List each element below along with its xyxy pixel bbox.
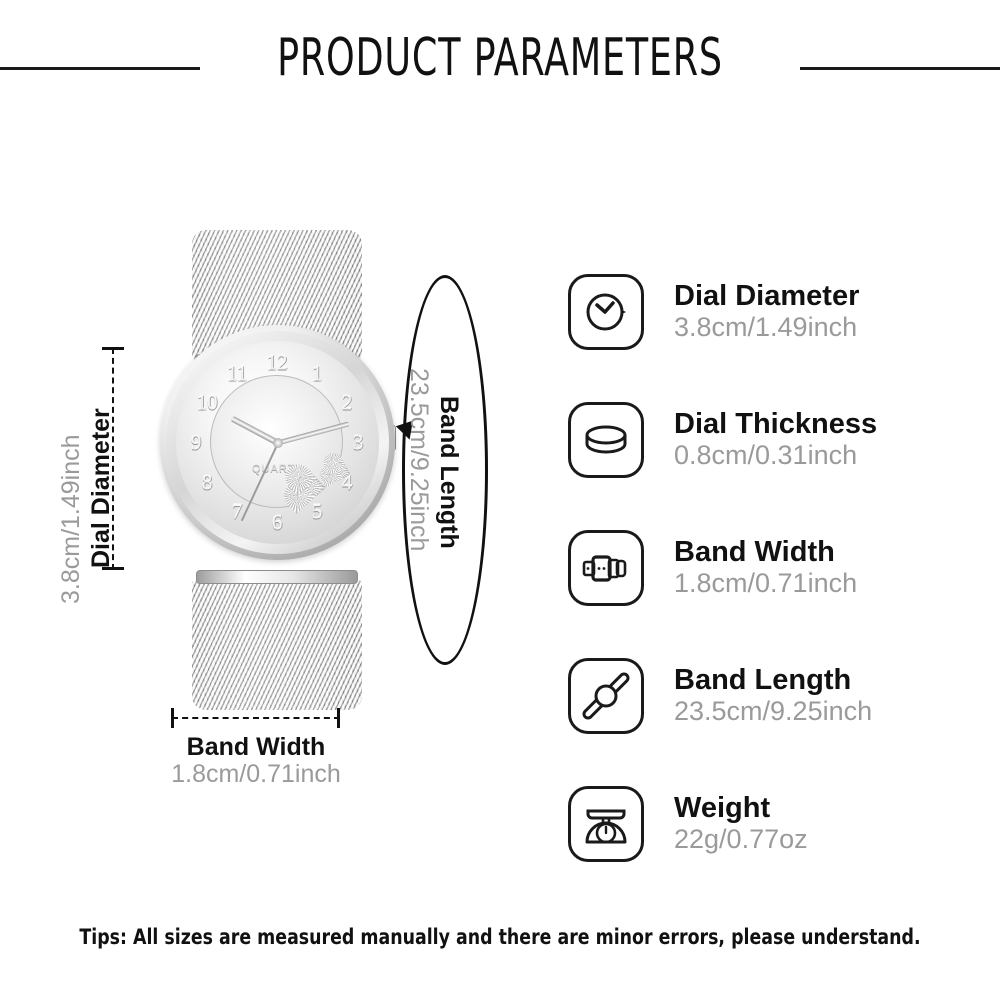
callout-band-width-value: 1.8cm/0.71inch — [110, 760, 402, 789]
dial-numeral-2: 2 — [342, 391, 353, 416]
dial-numeral-12: 12 — [267, 351, 288, 376]
dial-thickness-icon — [568, 402, 644, 478]
spec-row-dial-thickness: Dial Thickness 0.8cm/0.31inch — [568, 376, 968, 504]
spec-row-band-length: Band Length 23.5cm/9.25inch — [568, 632, 968, 760]
page-title: PRODUCT PARAMETERS — [110, 28, 890, 88]
spec-label: Band Length — [674, 664, 872, 696]
callout-band-length-value: 23.5cm/9.25inch — [406, 368, 433, 551]
dial-numeral-3: 3 — [353, 431, 364, 456]
spec-label: Band Width — [674, 536, 857, 568]
band-width-cap-left — [171, 708, 174, 728]
tips-note: Tips: All sizes are measured manually an… — [40, 925, 960, 949]
spec-label: Dial Diameter — [674, 280, 859, 312]
callout-dial-diameter-label: Dial Diameter — [88, 408, 115, 568]
spec-row-weight: Weight 22g/0.77oz — [568, 760, 968, 888]
callout-band-length-label: Band Length — [436, 396, 463, 549]
spec-text-band-width: Band Width 1.8cm/0.71inch — [674, 536, 857, 600]
dial-numeral-5: 5 — [312, 500, 323, 525]
dial-numeral-9: 9 — [191, 431, 202, 456]
watch-strap-icon — [568, 658, 644, 734]
hands-center-cap — [273, 438, 283, 448]
watch-buckle-icon — [568, 530, 644, 606]
spec-value: 1.8cm/0.71inch — [674, 568, 857, 600]
watch-lug-bottom — [196, 570, 358, 584]
kitchen-scale-icon — [568, 786, 644, 862]
spec-list: Dial Diameter 3.8cm/1.49inch Dial Thickn… — [568, 248, 968, 888]
spec-text-band-length: Band Length 23.5cm/9.25inch — [674, 664, 872, 728]
callout-band-width-label: Band Width — [110, 733, 402, 762]
spec-text-dial-diameter: Dial Diameter 3.8cm/1.49inch — [674, 280, 859, 344]
watch-band-bottom — [192, 580, 362, 710]
dial-numeral-10: 10 — [197, 391, 218, 416]
spec-value: 3.8cm/1.49inch — [674, 312, 859, 344]
dial-numeral-1: 1 — [312, 362, 323, 387]
spec-value: 23.5cm/9.25inch — [674, 696, 872, 728]
spec-value: 0.8cm/0.31inch — [674, 440, 877, 472]
callout-dial-diameter-value: 3.8cm/1.49inch — [58, 434, 85, 604]
dial-diameter-cap-top — [102, 347, 124, 350]
watch-dial-icon — [568, 274, 644, 350]
spec-row-band-width: Band Width 1.8cm/0.71inch — [568, 504, 968, 632]
spec-row-dial-diameter: Dial Diameter 3.8cm/1.49inch — [568, 248, 968, 376]
spec-text-weight: Weight 22g/0.77oz — [674, 792, 808, 856]
dial-numeral-6: 6 — [272, 511, 283, 536]
band-width-dimension-line — [172, 717, 340, 721]
dial-numeral-11: 11 — [227, 362, 247, 387]
band-width-cap-right — [337, 708, 340, 728]
product-image: 12 1 2 3 4 5 6 7 8 9 10 11 QUARTZ — [150, 230, 410, 710]
spec-text-dial-thickness: Dial Thickness 0.8cm/0.31inch — [674, 408, 877, 472]
spec-label: Weight — [674, 792, 808, 824]
watch-dial: 12 1 2 3 4 5 6 7 8 9 10 11 QUARTZ — [176, 341, 379, 544]
spec-label: Dial Thickness — [674, 408, 877, 440]
spec-value: 22g/0.77oz — [674, 824, 808, 856]
